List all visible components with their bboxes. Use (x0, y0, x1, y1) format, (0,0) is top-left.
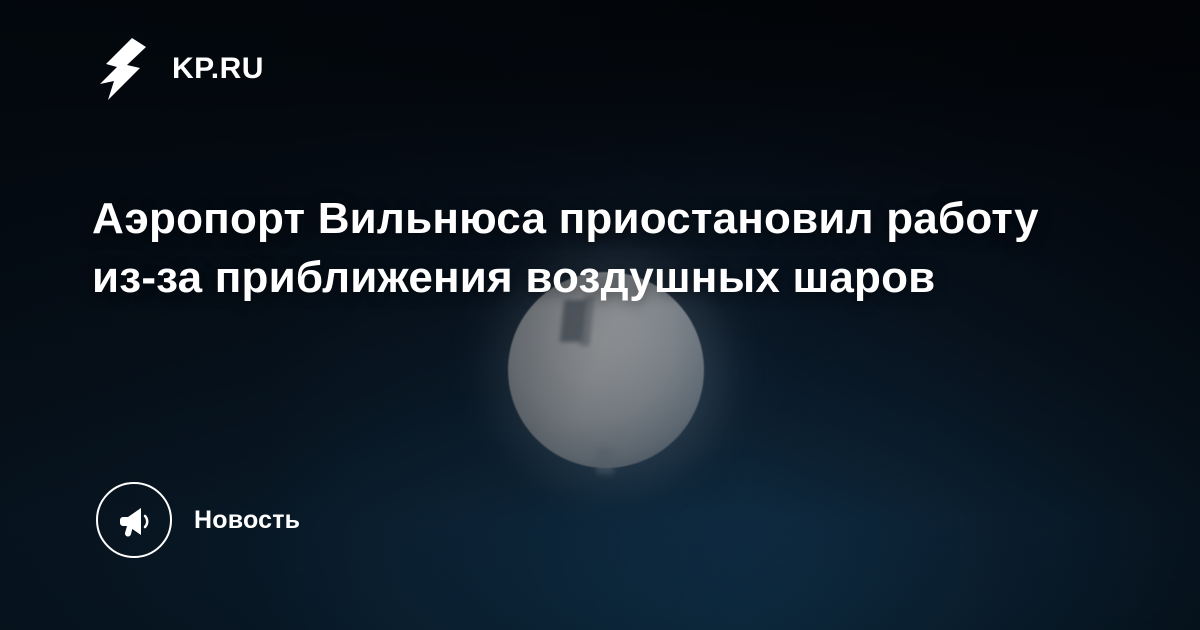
page-title: Аэропорт Вильнюса приостановил работу из… (92, 190, 1092, 307)
kp-bird-logo-icon (96, 38, 152, 100)
brand-lockup[interactable]: KP.RU (96, 38, 264, 100)
card-content: KP.RU Аэропорт Вильнюса приостановил раб… (0, 0, 1200, 630)
content-type-label: Новость (194, 506, 300, 535)
megaphone-icon-circle (96, 482, 172, 558)
content-type-tag[interactable]: Новость (96, 482, 300, 558)
social-share-card: KP.RU Аэропорт Вильнюса приостановил раб… (0, 0, 1200, 630)
brand-name: KP.RU (172, 54, 264, 84)
megaphone-icon (114, 500, 154, 540)
